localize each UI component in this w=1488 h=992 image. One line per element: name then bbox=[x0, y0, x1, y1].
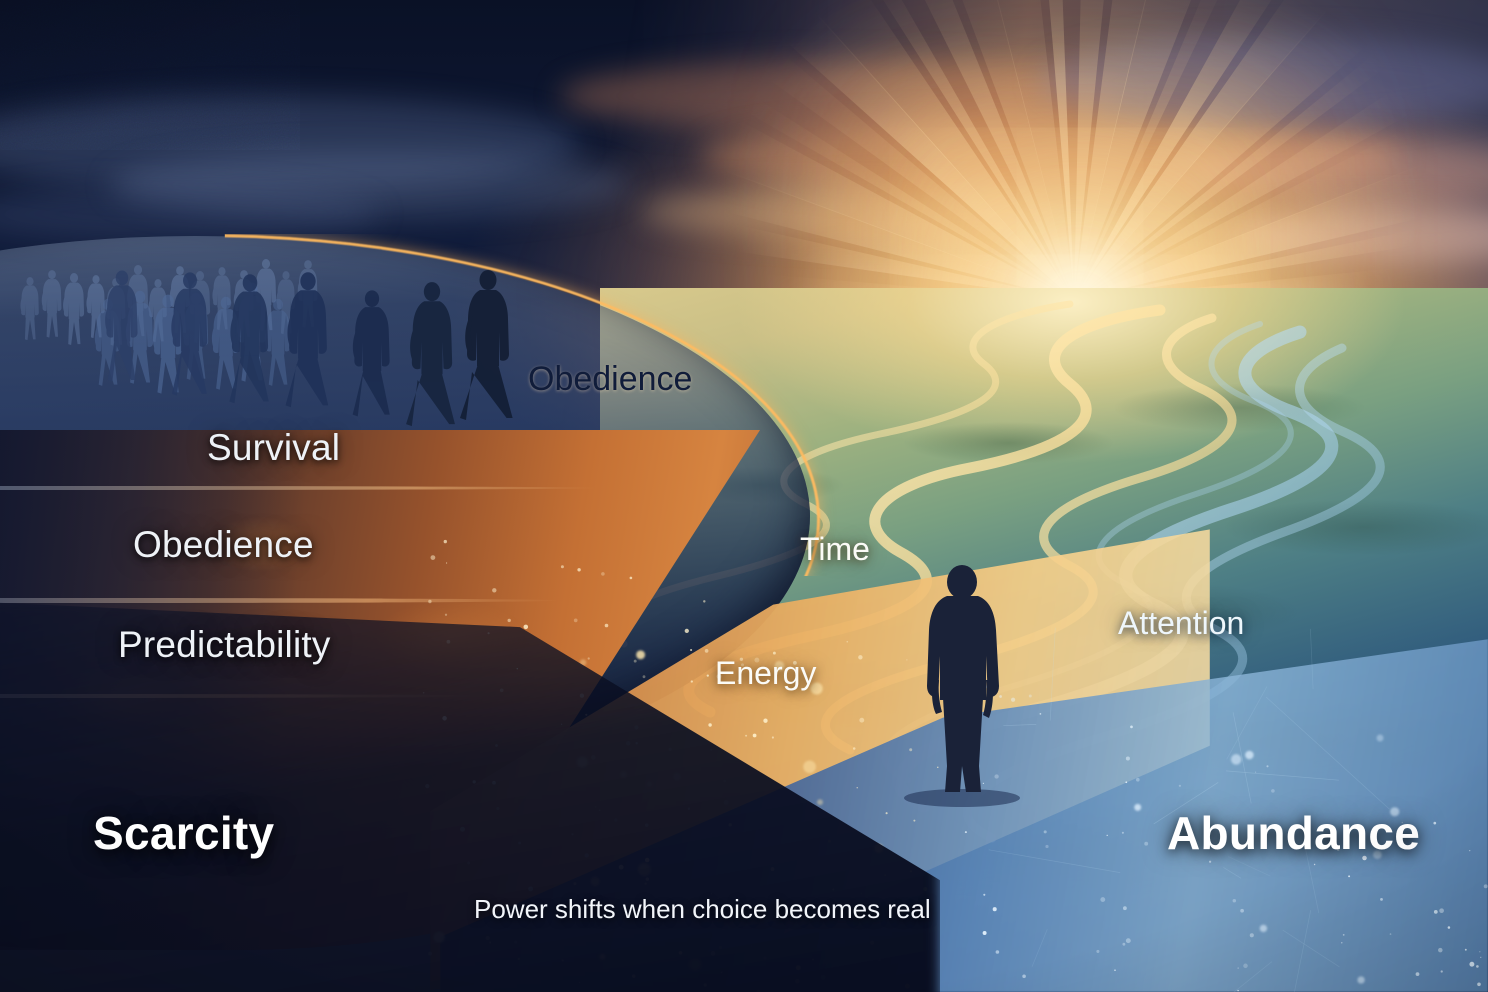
label-rim-obedience: Obedience bbox=[528, 360, 692, 399]
label-tier-predictability: Predictability bbox=[118, 624, 331, 666]
heading-abundance: Abundance bbox=[1167, 806, 1420, 860]
label-flow-energy: Energy bbox=[715, 655, 816, 692]
label-flow-time: Time bbox=[800, 531, 870, 568]
heading-scarcity: Scarcity bbox=[93, 806, 274, 860]
label-flow-attention: Attention bbox=[1118, 605, 1244, 642]
label-tier-obedience: Obedience bbox=[133, 524, 314, 566]
illustration-canvas: Obedience Survival Obedience Predictabil… bbox=[0, 0, 1488, 992]
caption-text: Power shifts when choice becomes real bbox=[474, 894, 931, 925]
marching-crowd-silhouettes bbox=[0, 150, 560, 440]
label-tier-survival: Survival bbox=[207, 427, 340, 469]
lone-person-silhouette bbox=[900, 560, 1080, 820]
